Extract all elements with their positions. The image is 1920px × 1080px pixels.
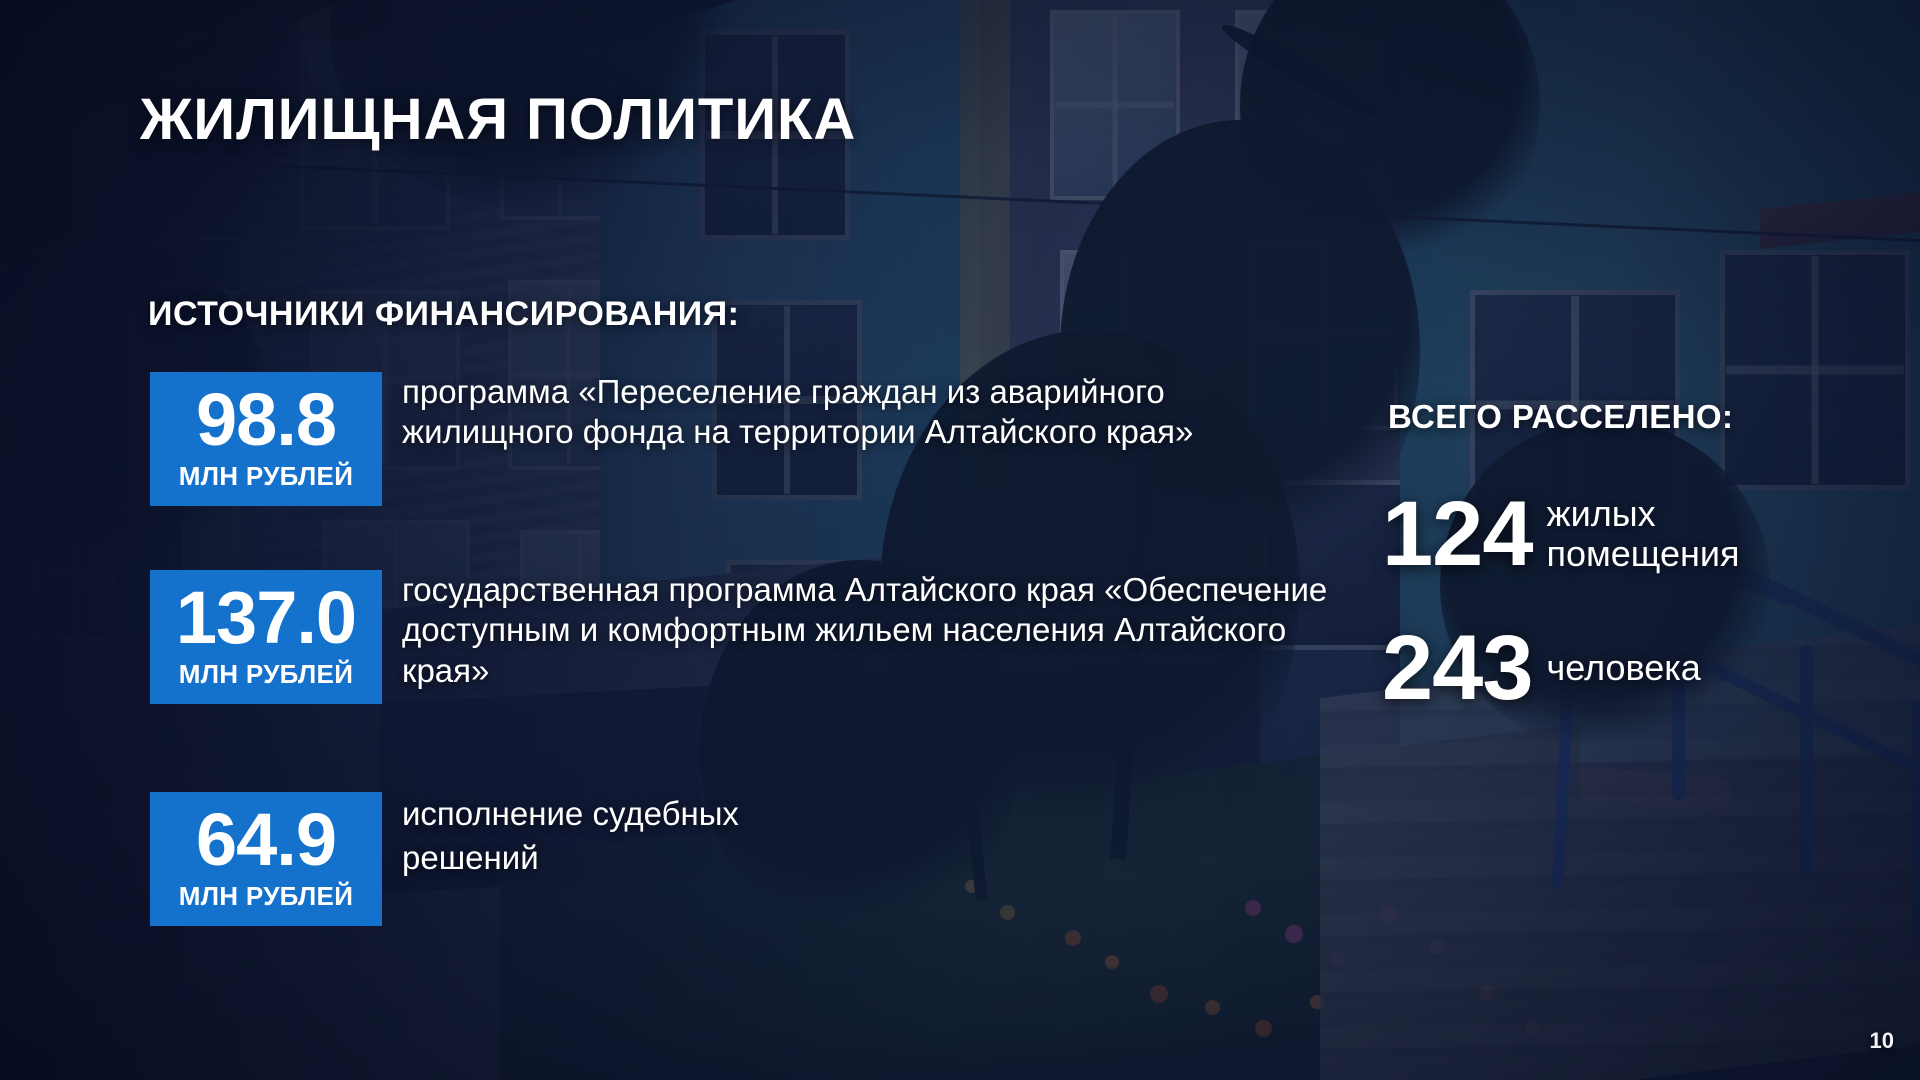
funding-description: исполнение судебных решений bbox=[402, 792, 832, 879]
amount-value: 137.0 bbox=[150, 582, 382, 653]
amount-badge: 64.9 МЛН РУБЛЕЙ bbox=[150, 792, 382, 926]
page-title: ЖИЛИЩНАЯ ПОЛИТИКА bbox=[140, 86, 856, 153]
funding-description: программа «Переселение граждан из аварий… bbox=[402, 372, 1342, 453]
amount-badge: 137.0 МЛН РУБЛЕЙ bbox=[150, 570, 382, 704]
funding-sources-heading: ИСТОЧНИКИ ФИНАНСИРОВАНИЯ: bbox=[148, 295, 739, 334]
amount-value: 64.9 bbox=[150, 804, 382, 875]
amount-unit: МЛН РУБЛЕЙ bbox=[150, 659, 382, 690]
resettled-number: 243 bbox=[1382, 622, 1533, 714]
amount-value: 98.8 bbox=[150, 384, 382, 455]
amount-unit: МЛН РУБЛЕЙ bbox=[150, 461, 382, 492]
resettled-stat: 124 жилых помещения bbox=[1382, 488, 1740, 580]
slide-root: ЖИЛИЩНАЯ ПОЛИТИКА ИСТОЧНИКИ ФИНАНСИРОВАН… bbox=[0, 0, 1920, 1080]
resettled-stat: 243 человека bbox=[1382, 622, 1701, 714]
page-number: 10 bbox=[1870, 1028, 1894, 1054]
resettled-label: человека bbox=[1547, 648, 1701, 688]
slide-content: ЖИЛИЩНАЯ ПОЛИТИКА ИСТОЧНИКИ ФИНАНСИРОВАН… bbox=[0, 0, 1920, 1080]
resettled-number: 124 bbox=[1382, 488, 1533, 580]
resettled-label: жилых помещения bbox=[1547, 494, 1740, 575]
resettled-heading: ВСЕГО РАССЕЛЕНО: bbox=[1388, 398, 1733, 436]
funding-description: государственная программа Алтайского кра… bbox=[402, 570, 1342, 691]
amount-unit: МЛН РУБЛЕЙ bbox=[150, 881, 382, 912]
amount-badge: 98.8 МЛН РУБЛЕЙ bbox=[150, 372, 382, 506]
